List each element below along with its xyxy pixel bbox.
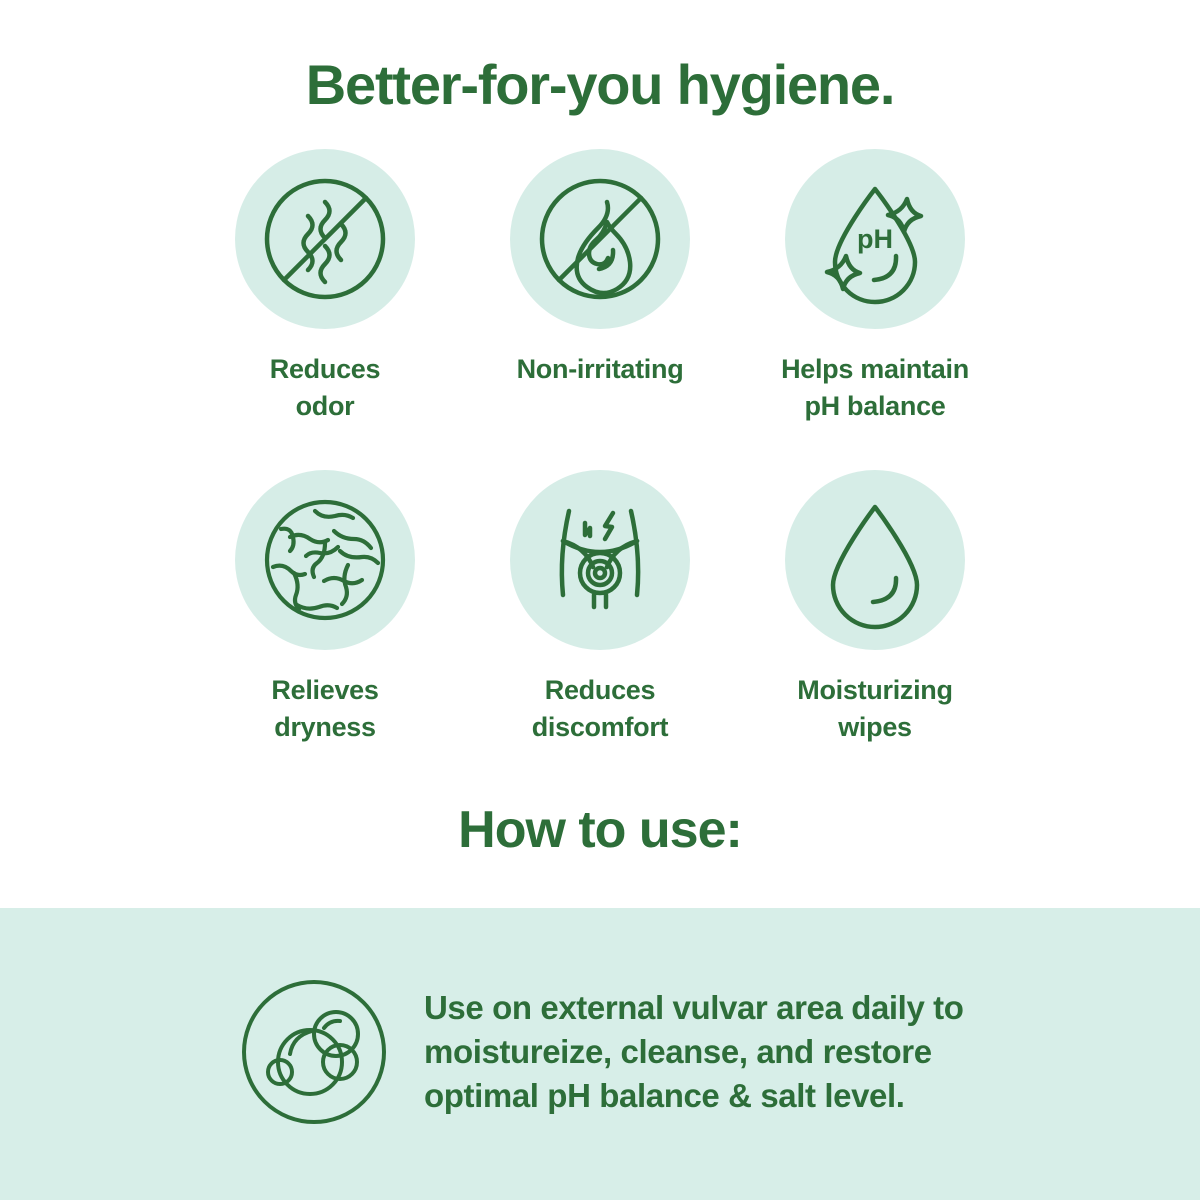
how-to-use-band: Use on external vulvar area daily to moi…	[0, 908, 1200, 1200]
benefit-item-reduces-discomfort: Reduces discomfort	[463, 470, 738, 747]
droplet-icon	[785, 470, 965, 650]
benefit-item-non-irritating: Non-irritating	[463, 149, 738, 426]
pelvis-discomfort-icon	[510, 470, 690, 650]
dry-skin-icon	[235, 470, 415, 650]
benefit-label: Non-irritating	[517, 351, 684, 388]
benefit-label: Helps maintain pH balance	[781, 351, 969, 426]
benefit-grid-row-2: Relieves dryness Re	[0, 470, 1200, 747]
benefit-label: Moisturizing wipes	[797, 672, 952, 747]
how-to-use-text: Use on external vulvar area daily to moi…	[424, 986, 1024, 1119]
no-odor-icon	[235, 149, 415, 329]
page-title: Better-for-you hygiene.	[0, 0, 1200, 113]
ph-droplet-text: pH	[857, 224, 893, 254]
benefit-label: Reduces discomfort	[532, 672, 669, 747]
ph-droplet-icon: pH	[785, 149, 965, 329]
how-to-use-heading: How to use:	[0, 746, 1200, 860]
benefit-item-ph-balance: pH Helps maintain pH balance	[738, 149, 1013, 426]
benefit-item-moisturizing-wipes: Moisturizing wipes	[738, 470, 1013, 747]
bubbles-icon	[240, 978, 388, 1126]
benefit-grid-row-1: Reduces odor Non-irritating	[0, 149, 1200, 426]
no-flame-icon	[510, 149, 690, 329]
how-to-use-content: Use on external vulvar area daily to moi…	[240, 978, 1024, 1126]
benefit-item-reduces-odor: Reduces odor	[188, 149, 463, 426]
benefit-label: Relieves dryness	[271, 672, 378, 747]
benefit-label: Reduces odor	[270, 351, 380, 426]
benefit-item-relieves-dryness: Relieves dryness	[188, 470, 463, 747]
infographic-page: Better-for-you hygiene. Reduces odor	[0, 0, 1200, 1200]
